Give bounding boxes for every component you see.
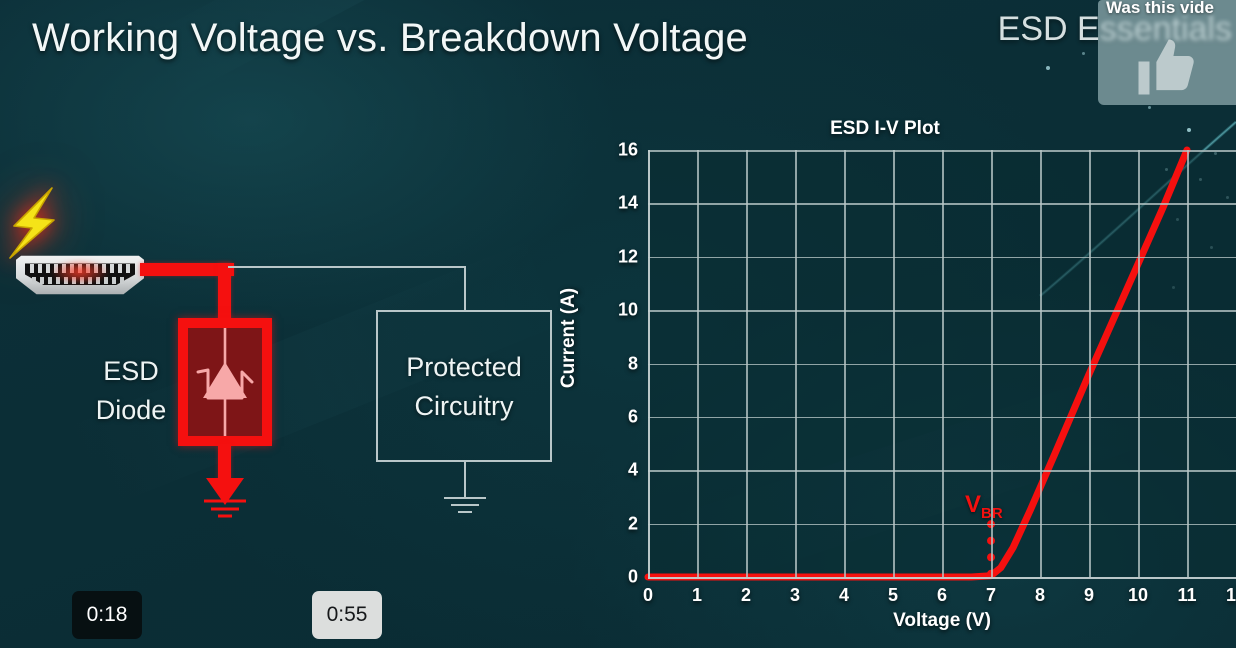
chart-y-tick-label: 2 <box>628 513 638 534</box>
chart-plot-area: VBR 01234567891011120246810121416 <box>648 150 1236 577</box>
esd-diode-label: ESD Diode <box>88 352 174 430</box>
chart-gridline-horizontal <box>648 203 1236 205</box>
chart-gridline-horizontal <box>648 150 1236 152</box>
chart-y-axis-label: Current (A) <box>558 288 580 388</box>
signal-wire-vertical <box>464 266 466 312</box>
background-particle <box>1082 52 1085 55</box>
hdmi-connector-icon <box>16 255 144 295</box>
tvs-diode-symbol-icon <box>188 328 262 436</box>
chart-x-tick-label: 11 <box>1177 585 1196 606</box>
chart-gridline-horizontal <box>648 257 1236 259</box>
chart-y-tick-label: 6 <box>628 406 638 427</box>
background-particle <box>1046 66 1050 70</box>
esd-diode-component <box>178 318 272 446</box>
chart-x-tick-label: 3 <box>790 585 800 606</box>
chart-x-tick-label: 4 <box>839 585 849 606</box>
protected-circuitry-label-line2: Circuitry <box>376 387 552 426</box>
ground-symbol-icon <box>200 498 250 520</box>
thumbs-up-icon[interactable] <box>1124 34 1208 100</box>
chart-x-axis-label: Voltage (V) <box>648 610 1236 632</box>
total-time-chip[interactable]: 0:55 <box>312 591 382 639</box>
breakdown-voltage-symbol: V <box>965 491 981 518</box>
chart-x-axis <box>648 577 1236 579</box>
protected-circuitry-label-line1: Protected <box>376 348 552 387</box>
chart-x-tick-label: 10 <box>1128 585 1148 606</box>
protected-ground-symbol-icon <box>442 496 488 516</box>
chart-y-tick-label: 8 <box>628 353 638 374</box>
chart-x-tick-label: 2 <box>741 585 751 606</box>
signal-wire-horizontal <box>228 266 466 268</box>
chart-x-tick-label: 8 <box>1035 585 1045 606</box>
chart-y-tick-label: 4 <box>628 460 638 481</box>
current-time-value: 0:18 <box>87 603 128 627</box>
protected-ground-wire <box>464 462 466 498</box>
hdmi-strike-glow <box>50 259 110 285</box>
chart-gridline-horizontal <box>648 417 1236 419</box>
survey-question: Was this vide <box>1106 0 1236 18</box>
breakdown-voltage-label: VBR <box>965 491 1003 522</box>
survey-overlay-card[interactable]: Was this vide <box>1098 0 1236 105</box>
esd-iv-chart: ESD I-V Plot Current (A) Voltage (V) VBR… <box>575 110 1236 648</box>
chart-y-tick-label: 12 <box>618 246 638 267</box>
chart-gridline-horizontal <box>648 470 1236 472</box>
chart-x-tick-label: 1 <box>692 585 702 606</box>
chart-x-tick-label: 9 <box>1084 585 1094 606</box>
chart-gridline-horizontal <box>648 364 1236 366</box>
protected-circuitry-label: Protected Circuitry <box>376 348 552 426</box>
chart-y-axis <box>648 150 650 579</box>
surge-wire-vertical <box>218 263 231 323</box>
chart-x-tick-label: 0 <box>643 585 653 606</box>
chart-y-tick-label: 10 <box>618 300 638 321</box>
current-time-chip[interactable]: 0:18 <box>72 591 142 639</box>
chart-x-tick-label: 7 <box>986 585 996 606</box>
video-frame: Working Voltage vs. Breakdown Voltage ES… <box>0 0 1236 648</box>
chart-y-tick-label: 16 <box>618 140 638 161</box>
chart-y-tick-label: 14 <box>618 193 638 214</box>
chart-gridline-horizontal <box>648 310 1236 312</box>
chart-x-tick-label: 6 <box>937 585 947 606</box>
total-time-value: 0:55 <box>327 603 368 627</box>
esd-diode-label-line2: Diode <box>88 391 174 430</box>
chart-x-tick-label: 5 <box>888 585 898 606</box>
chart-x-tick-label: 12 <box>1226 585 1236 606</box>
chart-y-tick-label: 0 <box>628 567 638 588</box>
esd-diode-label-line1: ESD <box>88 352 174 391</box>
chart-title: ESD I-V Plot <box>575 118 1195 140</box>
page-title: Working Voltage vs. Breakdown Voltage <box>32 16 748 61</box>
chart-gridline-horizontal <box>648 524 1236 526</box>
